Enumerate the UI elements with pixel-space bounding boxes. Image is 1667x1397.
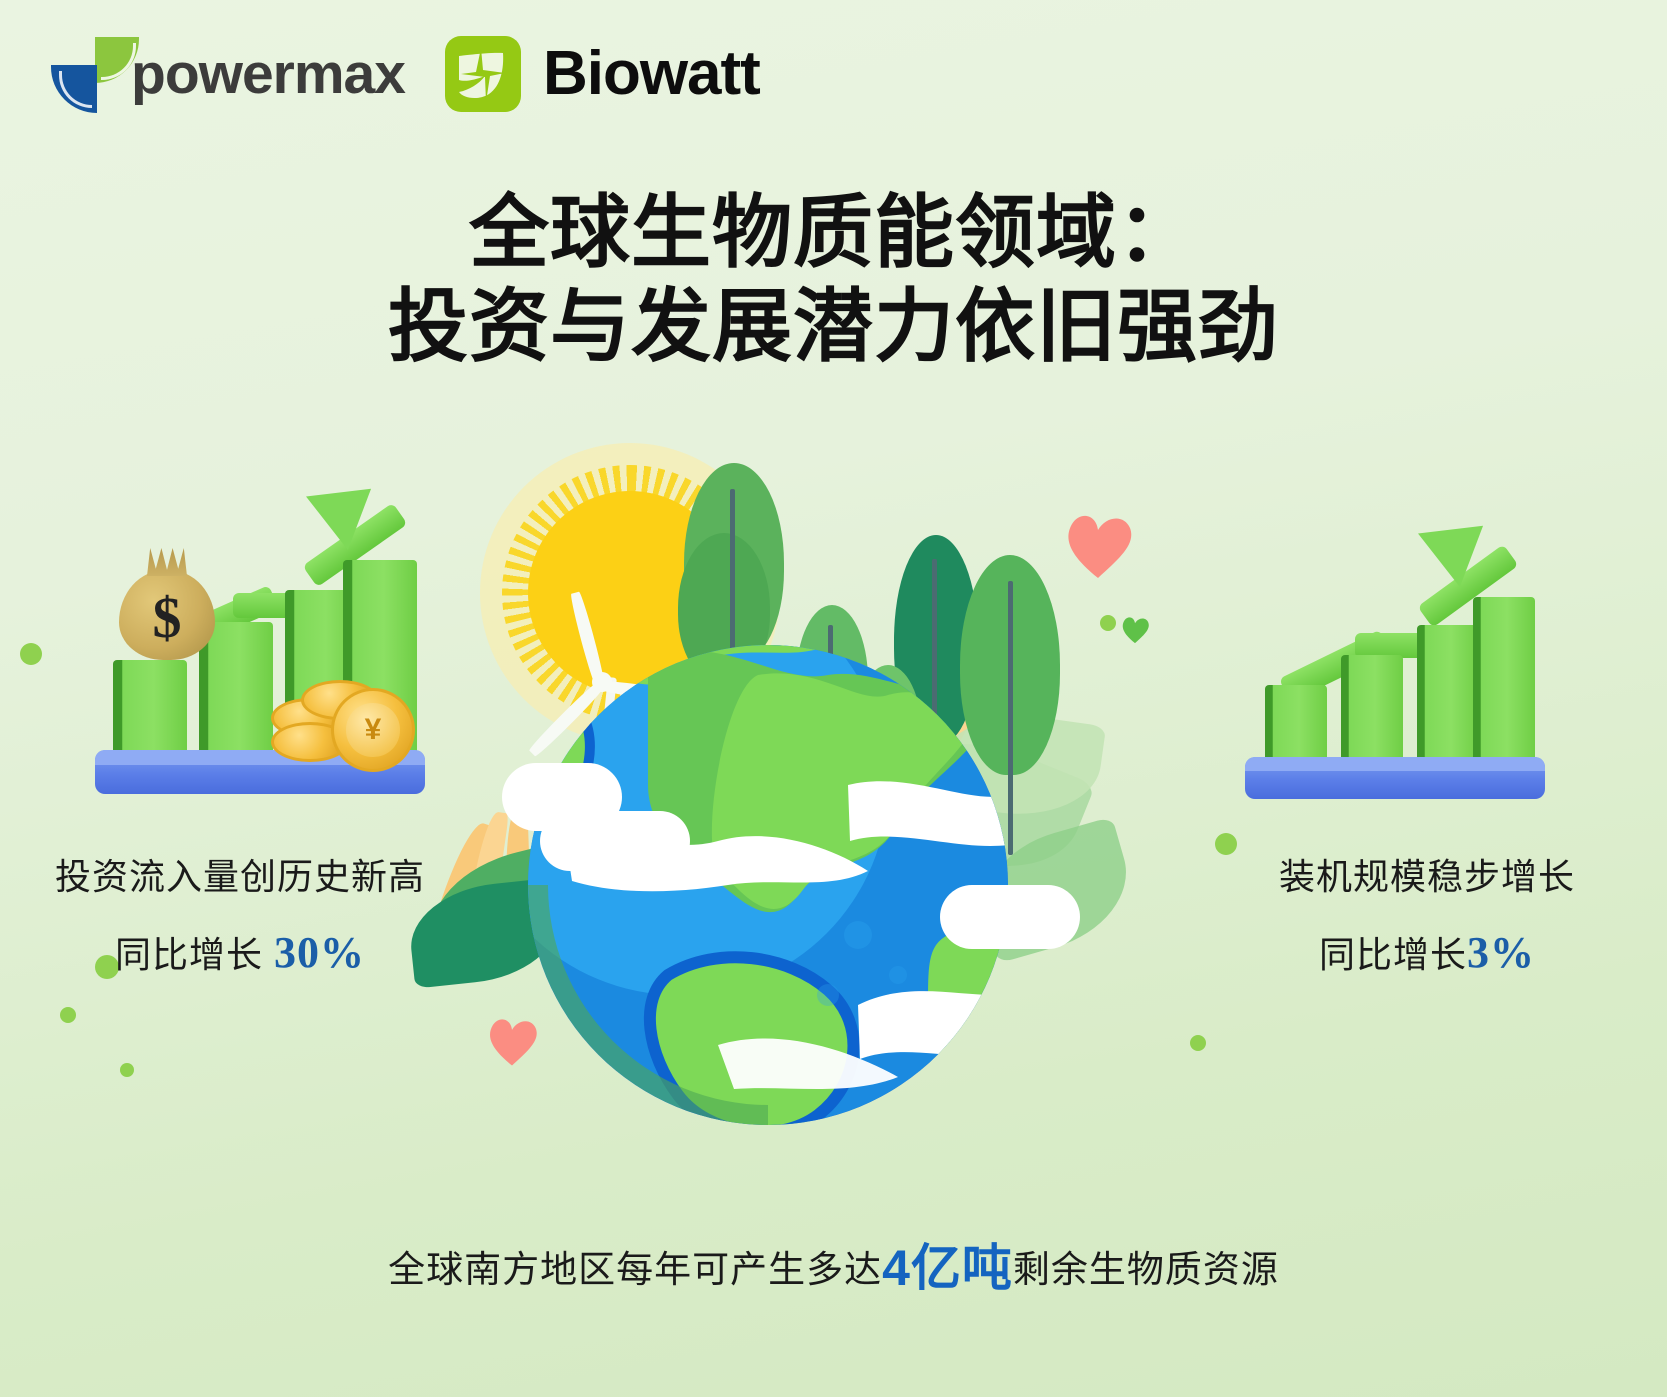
title-line-1: 全球生物质能领域： [0,186,1667,280]
dot-decor [1100,615,1116,631]
chart-platform [1245,757,1545,799]
cloud-icon [540,811,690,871]
bottom-caption: 全球南方地区每年可产生多达4亿吨剩余生物质资源 [0,1228,1667,1300]
stat-right-value: 3% [1467,928,1535,977]
stat-left-value: 30% [274,928,365,977]
biowatt-logo[interactable]: Biowatt [445,36,760,112]
stat-left-label: 同比增长 [115,934,274,975]
yen-symbol: ¥ [346,703,399,756]
cloud-icon [940,885,1080,949]
dollar-symbol: $ [119,584,215,651]
dot-decor [60,1007,76,1023]
powermax-leaf-icon [63,35,125,113]
stat-right-line2: 同比增长3% [1217,926,1637,978]
heart-icon [485,1015,539,1072]
yen-coin-icon: ¥ [331,688,415,772]
biowatt-leaf-bolt-icon [445,36,521,112]
dot-decor [20,643,42,665]
dot-decor [120,1063,134,1077]
capacity-growth-chart-icon [1245,485,1545,785]
stat-right-label: 同比增长 [1319,934,1467,975]
illustration-stage: $ ¥ [0,415,1667,1245]
stat-left-line2: 同比增长 30% [30,926,450,978]
page-title: 全球生物质能领域： 投资与发展潜力依旧强劲 [0,186,1667,375]
heart-icon [1062,510,1134,585]
stat-left-line1: 投资流入量创历史新高 [30,848,450,900]
biowatt-wordmark: Biowatt [543,43,760,105]
powermax-logo[interactable]: powermax [63,35,405,113]
caption-before: 全球南方地区每年可产生多达 [388,1249,882,1290]
money-bag-icon: $ [119,570,215,660]
powermax-wordmark: powermax [131,46,405,103]
investment-growth-chart-icon: $ ¥ [95,470,415,780]
title-line-2: 投资与发展潜力依旧强劲 [0,280,1667,374]
stat-right-line1: 装机规模稳步增长 [1217,848,1637,900]
dot-decor [1190,1035,1206,1051]
stat-block-capacity: 装机规模稳步增长 同比增长3% [1217,848,1637,978]
caption-after: 剩余生物质资源 [1013,1249,1279,1290]
brand-logo-bar: powermax Biowatt [63,35,760,113]
heart-icon-small [1120,615,1150,649]
globe-icon [528,645,1008,1125]
stat-block-investment: 投资流入量创历史新高 同比增长 30% [30,848,450,978]
caption-highlight: 4亿吨 [882,1240,1013,1296]
